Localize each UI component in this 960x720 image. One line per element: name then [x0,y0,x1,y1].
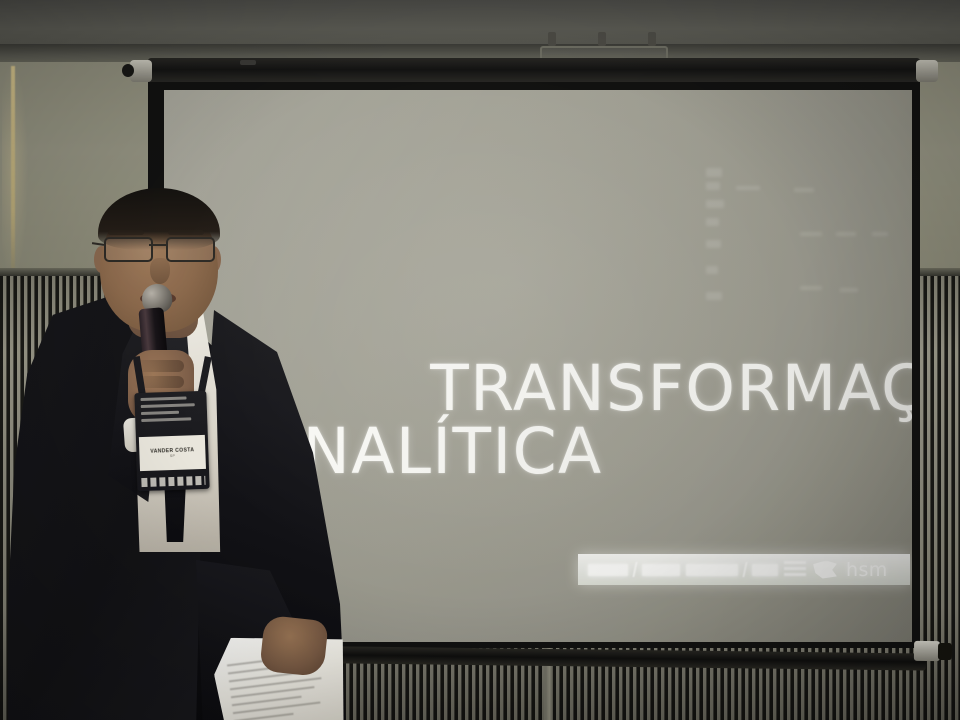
bracket-stud [648,32,656,46]
weight-bar-tip [938,643,952,660]
eyebrow-left [108,230,144,235]
badge-name-plate: VANDER COSTA SP [139,435,206,471]
glasses-bridge [149,244,166,246]
badge-footer-logos [141,476,205,487]
badge-line [141,411,179,415]
hsm-brand-label: hsm [846,559,888,581]
ghost-mark [800,232,822,236]
roller-end-cap-right [916,60,938,82]
badge-line [140,396,186,401]
ghost-mark [706,266,718,274]
ghost-mark [706,168,722,177]
ceiling [0,0,960,48]
ghost-mark [736,186,760,190]
badge-header-lines [140,396,201,434]
partner-logo-5 [784,561,806,578]
bracket-stud [548,32,556,46]
badge-line [141,403,195,408]
conference-badge: VANDER COSTA SP [134,391,209,491]
partner-logo-3 [686,564,738,576]
bracket-stud [598,32,606,46]
roller-knob [122,64,134,77]
badge-attendee-subtitle: SP [170,454,175,458]
ghost-mark [840,288,858,292]
eyeglasses-icon [100,237,220,259]
paper-text-line [234,713,294,720]
presentation-photo: TRANSFORMAÇÃOANALÍTICA hsm [0,0,960,720]
lens-left [104,237,153,262]
ghost-mark [706,182,720,190]
roller-tab [240,60,256,65]
ghost-mark [800,286,822,290]
logo-separator [632,562,637,577]
glasses-temple [92,242,104,246]
partner-logo-2 [642,564,680,576]
speaker: VANDER COSTA SP [0,180,360,720]
partner-logo-6 [813,561,837,579]
ghost-mark [794,188,814,192]
ghost-mark [836,232,856,236]
hand-holding-papers [259,615,329,677]
slide-logo-bar: hsm [578,554,910,585]
logo-separator [742,562,747,577]
weight-bar-end-cap [914,641,940,661]
partner-logo-4 [752,564,778,576]
ghost-mark [706,200,724,208]
screen-roller-casing [148,58,920,84]
ghost-mark [872,232,888,236]
ghost-mark [706,218,719,226]
eyebrow-right [168,230,204,235]
badge-line [141,417,191,422]
partner-logo-1 [588,564,628,576]
lens-right [166,237,215,262]
ghost-mark [706,240,721,248]
nose [150,258,170,284]
